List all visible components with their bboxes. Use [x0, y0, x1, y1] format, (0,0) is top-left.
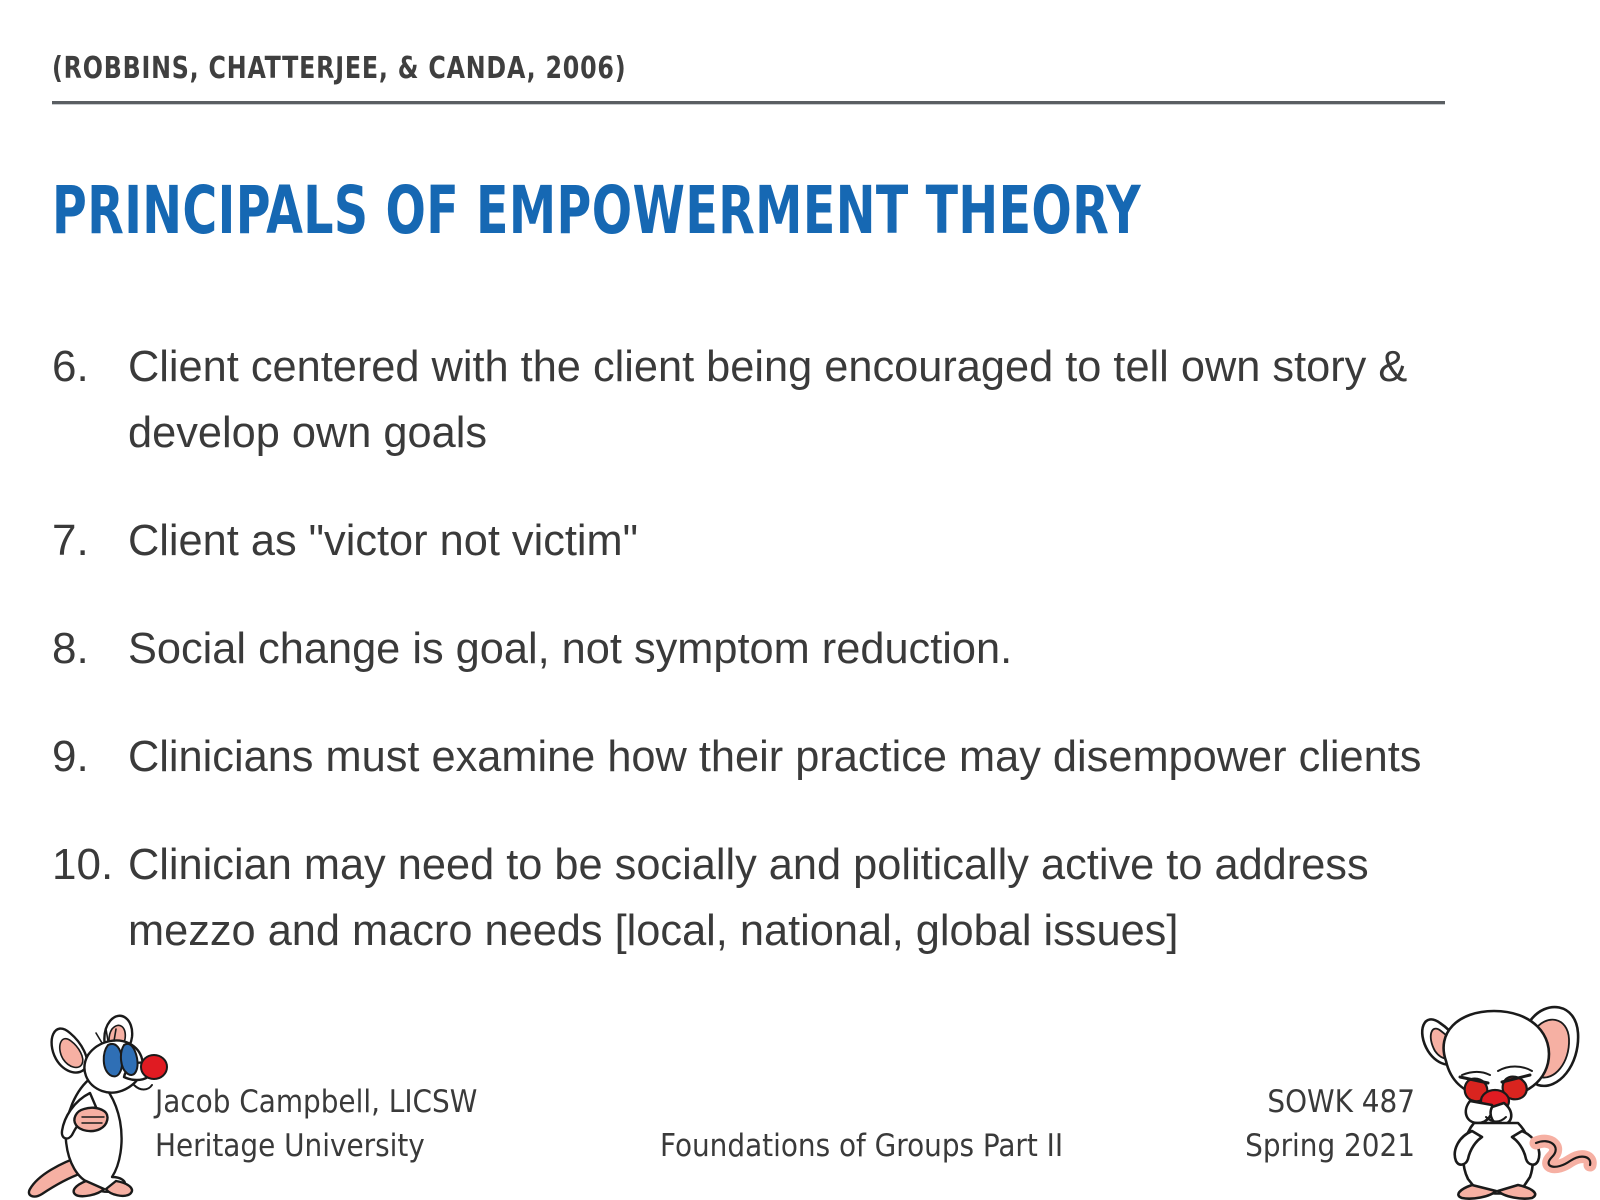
list-item-number: 6.: [52, 334, 128, 400]
brain-mouse-icon: [1400, 965, 1600, 1200]
list-item-number: 8.: [52, 616, 128, 682]
course-code: SOWK 487: [1245, 1080, 1415, 1124]
page-title: PRINCIPALS OF EMPOWERMENT THEORY: [52, 178, 1141, 244]
list-item-text: Clinicians must examine how their practi…: [128, 724, 1507, 790]
list-item: 7. Client as "victor not victim": [52, 508, 1532, 574]
list-item-text: Client as "victor not victim": [128, 508, 1507, 574]
slide-header: (ROBBINS, CHATTERJEE, & CANDA, 2006): [52, 52, 1448, 105]
list-item-text: Client centered with the client being en…: [128, 334, 1507, 466]
course-term: Spring 2021: [1245, 1124, 1415, 1168]
list-item-text: Clinician may need to be socially and po…: [128, 832, 1507, 964]
list-item: 9. Clinicians must examine how their pra…: [52, 724, 1532, 790]
list-item-number: 9.: [52, 724, 128, 790]
list-item: 10. Clinician may need to be socially an…: [52, 832, 1532, 964]
list-item-number: 7.: [52, 508, 128, 574]
principles-list: 6. Client centered with the client being…: [52, 334, 1532, 964]
slide-footer: Jacob Campbell, LICSW Heritage Universit…: [155, 1080, 1415, 1172]
list-item: 8. Social change is goal, not symptom re…: [52, 616, 1532, 682]
list-item-text: Social change is goal, not symptom reduc…: [128, 616, 1507, 682]
presenter-institution: Heritage University: [155, 1124, 477, 1168]
list-item: 6. Client centered with the client being…: [52, 334, 1532, 466]
footer-lecture-title: Foundations of Groups Part II: [660, 1124, 1063, 1168]
footer-presenter: Jacob Campbell, LICSW Heritage Universit…: [155, 1080, 477, 1168]
header-divider: [52, 101, 1445, 105]
list-item-number: 10.: [52, 832, 128, 898]
slide: (ROBBINS, CHATTERJEE, & CANDA, 2006) PRI…: [0, 0, 1600, 1200]
presenter-name: Jacob Campbell, LICSW: [155, 1080, 477, 1124]
footer-course: SOWK 487 Spring 2021: [1245, 1080, 1415, 1168]
citation-text: (ROBBINS, CHATTERJEE, & CANDA, 2006): [52, 52, 1280, 85]
